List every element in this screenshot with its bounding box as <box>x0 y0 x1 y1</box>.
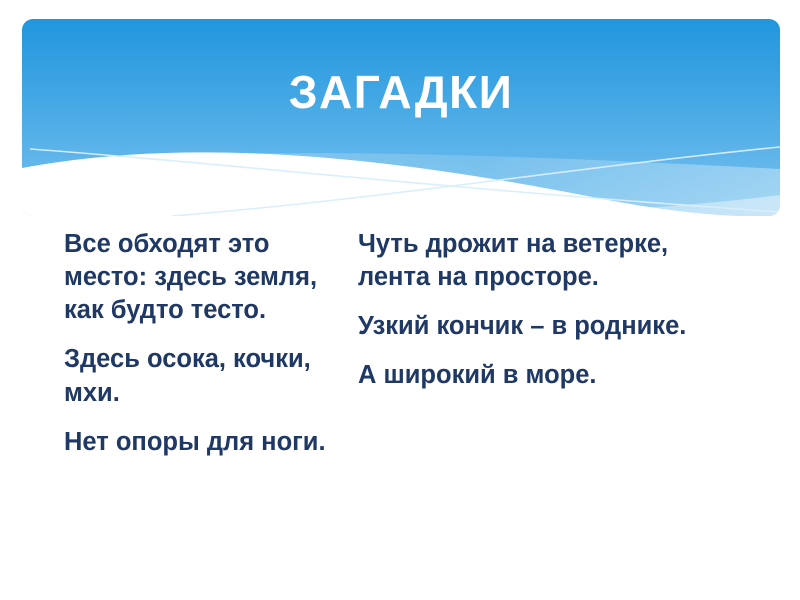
riddles-content-area: Все обходят это место: здесь земля, как … <box>0 228 800 538</box>
riddle-column-left: Все обходят это место: здесь земля, как … <box>0 228 348 459</box>
header-banner: ЗАГАДКИ <box>22 19 780 216</box>
riddle-item: Чуть дрожит на ветерке, лента на простор… <box>358 228 738 294</box>
riddle-item: А широкий в море. <box>358 359 738 392</box>
riddle-item: Узкий кончик – в роднике. <box>358 310 738 343</box>
riddle-item: Нет опоры для ноги. <box>64 426 342 459</box>
page-title: ЗАГАДКИ <box>22 68 780 116</box>
riddle-item: Здесь осока, кочки, мхи. <box>64 343 342 409</box>
riddle-item: Все обходят это место: здесь земля, как … <box>64 228 342 327</box>
riddle-column-right: Чуть дрожит на ветерке, лента на простор… <box>348 228 744 393</box>
